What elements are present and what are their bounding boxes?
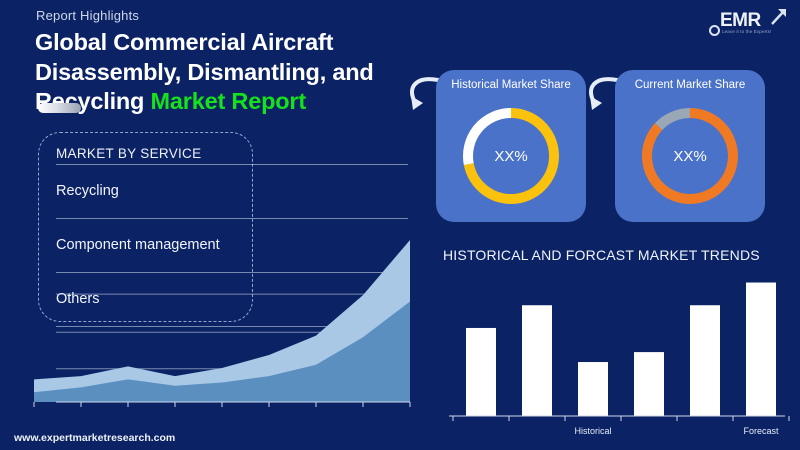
page-title: Global Commercial Aircraft Disassembly, … [35, 28, 455, 117]
page-title-accent: Market Report [151, 88, 306, 114]
card-title: Historical Market Share [436, 79, 586, 91]
logo-tagline: Leave it to the Experts! [722, 29, 771, 34]
footer-url[interactable]: www.expertmarketresearch.com [14, 432, 175, 444]
market-growth-area-chart [32, 236, 412, 416]
historical-and-forecast-trends: HistoricalForecast [443, 268, 793, 438]
circle-icon [709, 25, 720, 36]
list-item[interactable]: Recycling [56, 164, 408, 218]
growth-arrow-icon [768, 6, 790, 28]
card-title: Current Market Share [615, 79, 765, 91]
divider [56, 164, 408, 165]
title-underline-pill [38, 103, 81, 113]
bar-tick-label: Forecast [743, 426, 779, 436]
slide-canvas: Report Highlights Global Commercial Airc… [0, 0, 800, 450]
historical-market-share-card[interactable]: Historical Market Share XX% [436, 70, 586, 222]
eyebrow-label: Report Highlights [36, 8, 139, 23]
logo-wordmark: EMR [720, 11, 761, 30]
divider [56, 218, 408, 219]
emr-logo[interactable]: EMR Leave it to the Experts! [706, 6, 792, 40]
market-by-service-title: MARKET BY SERVICE [56, 146, 201, 161]
current-market-share-card[interactable]: Current Market Share XX% [615, 70, 765, 222]
bar-chart-title: HISTORICAL AND FORCAST MARKET TRENDS [443, 247, 760, 263]
donut-rings [635, 101, 745, 211]
bar-tick-label: Historical [574, 426, 611, 436]
donut-chart: XX% [635, 101, 745, 216]
donut-chart: XX% [456, 101, 566, 216]
donut-rings [456, 101, 566, 211]
list-item-label: Recycling [56, 183, 119, 199]
